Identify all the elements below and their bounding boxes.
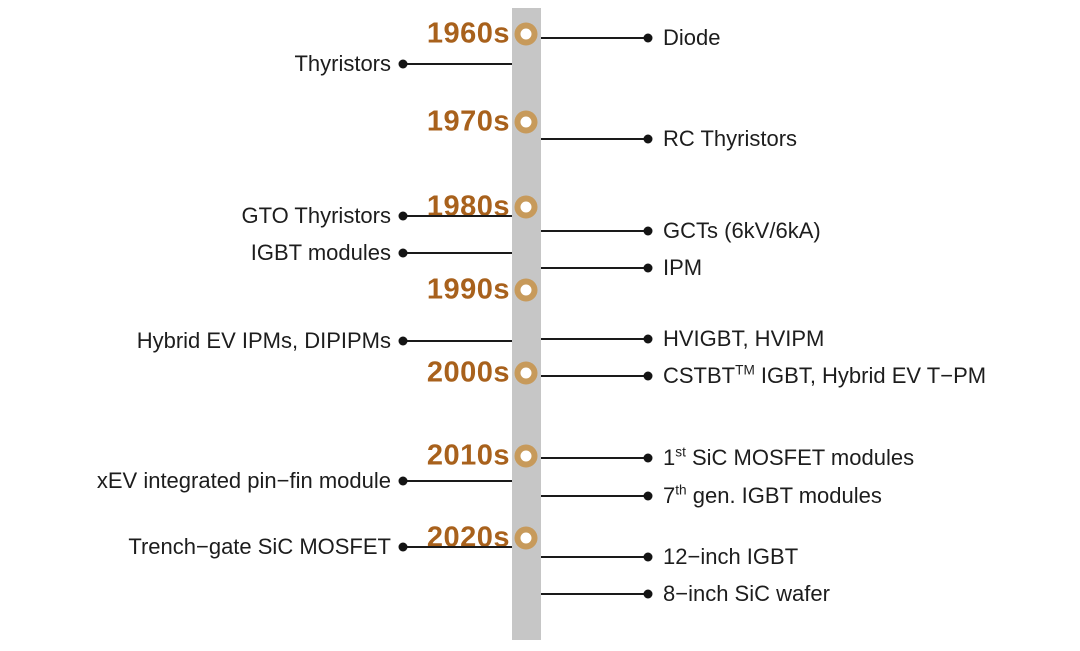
decade-marker-2010s [515, 445, 538, 468]
event-label-right: 7th gen. IGBT modules [663, 483, 882, 509]
connector-line-left [403, 480, 512, 482]
event-label-right: 8−inch SiC wafer [663, 581, 830, 607]
connector-dot-left [399, 212, 408, 221]
event-label-superscript: st [675, 445, 686, 460]
connector-dot-right [644, 372, 653, 381]
event-label-text: RC Thyristors [663, 126, 797, 151]
decade-label-1970s: 1970s [427, 106, 510, 139]
connector-line-left [403, 546, 512, 548]
connector-dot-left [399, 477, 408, 486]
connector-dot-left [399, 249, 408, 258]
connector-line-right [541, 267, 648, 269]
event-label-suffix: gen. IGBT modules [687, 483, 882, 508]
event-label-right: RC Thyristors [663, 126, 797, 152]
event-label-left: IGBT modules [251, 240, 391, 266]
event-label-superscript: th [675, 483, 686, 498]
event-label-left: Thyristors [294, 51, 391, 77]
event-label-left: GTO Thyristors [241, 203, 391, 229]
connector-dot-right [644, 264, 653, 273]
event-label-left: Trench−gate SiC MOSFET [128, 534, 391, 560]
decade-label-1960s: 1960s [427, 18, 510, 51]
connector-line-right [541, 593, 648, 595]
connector-dot-right [644, 590, 653, 599]
connector-line-right [541, 375, 648, 377]
connector-line-right [541, 338, 648, 340]
decade-label-1980s: 1980s [427, 191, 510, 224]
decade-label-1990s: 1990s [427, 274, 510, 307]
event-label-right: IPM [663, 255, 702, 281]
event-label-suffix: IGBT, Hybrid EV T−PM [755, 363, 986, 388]
event-label-left: xEV integrated pin−fin module [97, 468, 391, 494]
event-label-superscript: TM [735, 363, 755, 378]
connector-line-left [403, 63, 512, 65]
decade-marker-2000s [515, 362, 538, 385]
connector-line-right [541, 37, 648, 39]
connector-dot-right [644, 135, 653, 144]
connector-line-right [541, 230, 648, 232]
connector-dot-right [644, 227, 653, 236]
decade-marker-1980s [515, 196, 538, 219]
event-label-text: Diode [663, 25, 720, 50]
event-label-right: CSTBTTM IGBT, Hybrid EV T−PM [663, 363, 986, 389]
connector-dot-right [644, 454, 653, 463]
connector-dot-left [399, 60, 408, 69]
event-label-right: HVIGBT, HVIPM [663, 326, 824, 352]
event-label-text: 8−inch SiC wafer [663, 581, 830, 606]
event-label-right: 1st SiC MOSFET modules [663, 445, 914, 471]
connector-line-left [403, 340, 512, 342]
decade-marker-1970s [515, 111, 538, 134]
connector-dot-right [644, 492, 653, 501]
decade-label-2000s: 2000s [427, 357, 510, 390]
decade-label-2010s: 2010s [427, 440, 510, 473]
event-label-right: GCTs (6kV/6kA) [663, 218, 821, 244]
decade-marker-2020s [515, 527, 538, 550]
connector-line-right [541, 495, 648, 497]
event-label-text: 1 [663, 445, 675, 470]
event-label-right: Diode [663, 25, 720, 51]
connector-line-right [541, 138, 648, 140]
connector-line-right [541, 556, 648, 558]
event-label-text: GCTs (6kV/6kA) [663, 218, 821, 243]
event-label-text: 7 [663, 483, 675, 508]
event-label-text: CSTBT [663, 363, 735, 388]
connector-line-left [403, 215, 512, 217]
decade-marker-1990s [515, 279, 538, 302]
timeline-diagram: 1960s1970s1980s1990s2000s2010s2020s Thyr… [0, 0, 1080, 651]
event-label-right: 12−inch IGBT [663, 544, 798, 570]
event-label-suffix: SiC MOSFET modules [686, 445, 914, 470]
connector-dot-left [399, 337, 408, 346]
connector-dot-right [644, 553, 653, 562]
connector-dot-left [399, 543, 408, 552]
event-label-text: 12−inch IGBT [663, 544, 798, 569]
event-label-text: HVIGBT, HVIPM [663, 326, 824, 351]
connector-line-right [541, 457, 648, 459]
connector-dot-right [644, 335, 653, 344]
connector-dot-right [644, 34, 653, 43]
connector-line-left [403, 252, 512, 254]
decade-marker-1960s [515, 23, 538, 46]
decade-label-2020s: 2020s [427, 522, 510, 555]
event-label-left: Hybrid EV IPMs, DIPIPMs [137, 328, 391, 354]
event-label-text: IPM [663, 255, 702, 280]
